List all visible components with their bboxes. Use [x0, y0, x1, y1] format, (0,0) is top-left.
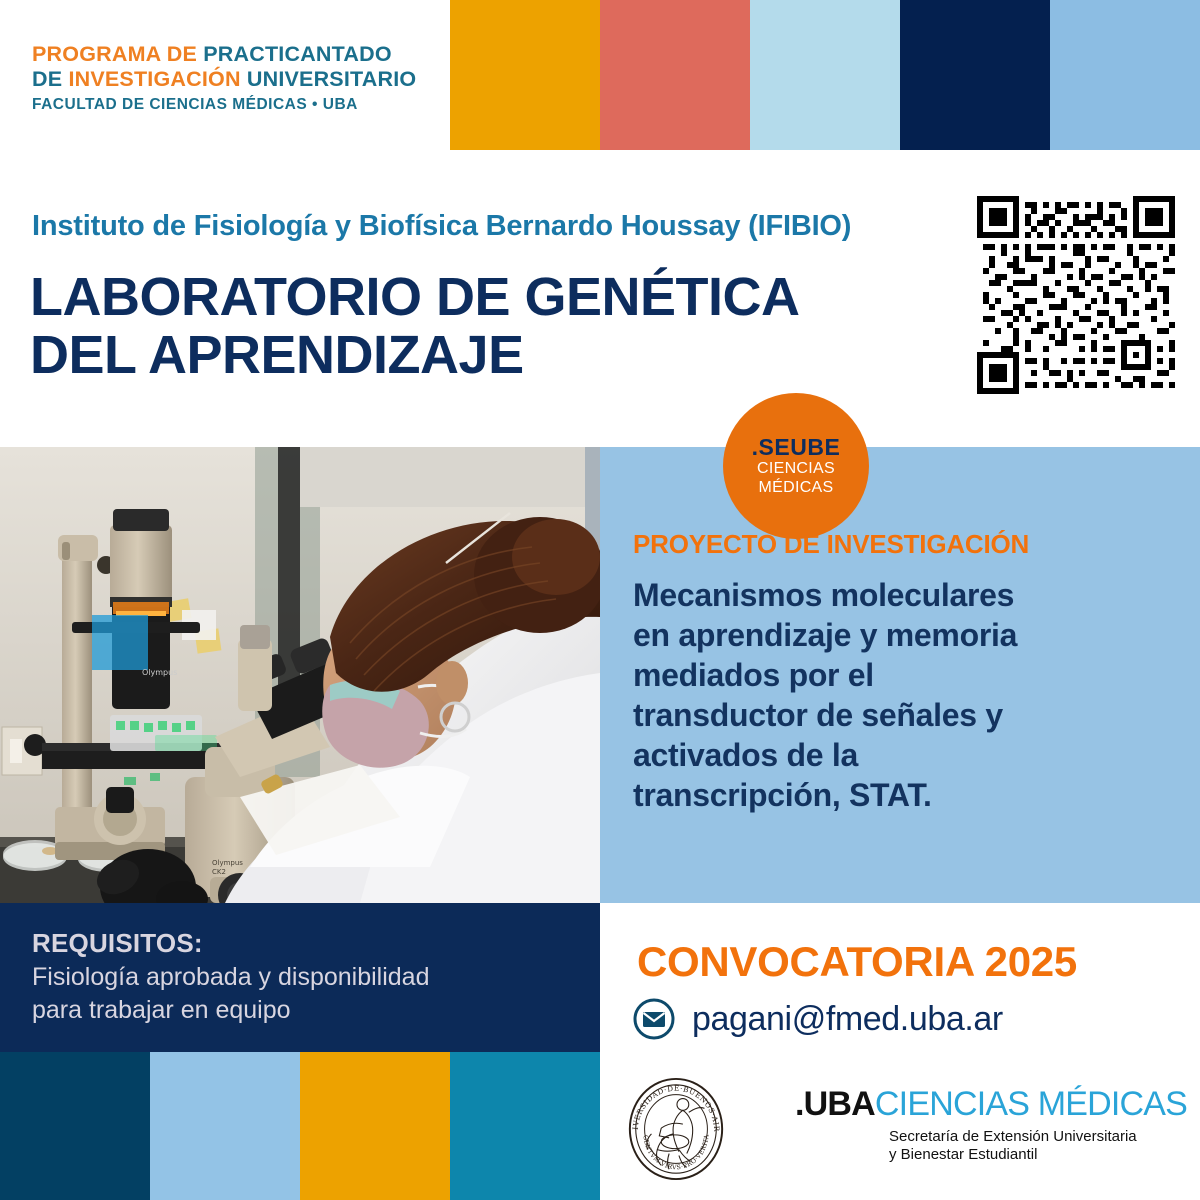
- requisitos-band: REQUISITOS: Fisiología aprobada y dispon…: [0, 903, 600, 1052]
- svg-text:CK2: CK2: [212, 868, 226, 876]
- uba-wordmark-main: .UBACIENCIAS MÉDICAS: [795, 1085, 1175, 1123]
- requisitos-text: Fisiología aprobada y disponibilidad par…: [32, 961, 572, 1027]
- contact-row[interactable]: pagani@fmed.uba.ar: [632, 997, 1003, 1041]
- top-bar-segment-coral: [600, 0, 750, 150]
- bottom-bar-segment-teal: [450, 1052, 600, 1200]
- svg-text:Olympus: Olympus: [212, 859, 243, 867]
- top-bar-segment-navy: [900, 0, 1050, 150]
- bottom-bar-segment-gold: [300, 1052, 450, 1200]
- uba-wordmark-subtitle-line-1: Secretaría de Extensión Universitaria: [889, 1128, 1175, 1146]
- requisitos-text-line: Fisiología aprobada y disponibilidad: [32, 961, 572, 994]
- project-title-line: transcripción, STAT.: [633, 775, 1178, 815]
- convocatoria-heading: CONVOCATORIA 2025: [637, 938, 1077, 986]
- laboratory-photo: Olympus Olympus CK2: [0, 447, 600, 903]
- program-logo-line-1: PROGRAMA DE PRACTICANTADO: [32, 42, 452, 67]
- project-title: Mecanismos moleculares en aprendizaje y …: [633, 575, 1178, 815]
- program-logo-line-1b: PRACTICANTADO: [203, 42, 392, 66]
- requisitos-label: REQUISITOS:: [32, 928, 203, 959]
- seube-badge-subtitle-1: CIENCIAS: [757, 459, 835, 478]
- top-bar-segment-gold: [450, 0, 600, 150]
- project-title-line: en aprendizaje y memoria: [633, 615, 1178, 655]
- seube-badge: .SEUBE CIENCIAS MÉDICAS: [723, 393, 869, 539]
- institute-name: Instituto de Fisiología y Biofísica Bern…: [32, 210, 962, 243]
- seube-badge-title: .SEUBE: [752, 435, 841, 459]
- top-bar-segment-medium-blue: [1050, 0, 1200, 150]
- bottom-bar-segment-dark-blue: [0, 1052, 150, 1200]
- uba-ciencias-medicas-wordmark: .UBACIENCIAS MÉDICAS Secretaría de Exten…: [795, 1085, 1175, 1164]
- bottom-bar-segment-light-blue: [150, 1052, 300, 1200]
- project-panel: PROYECTO DE INVESTIGACIÓN Mecanismos mol…: [600, 447, 1200, 903]
- uba-wordmark-subtitle-line-2: y Bienestar Estudiantil: [889, 1146, 1175, 1164]
- uba-wordmark-uba: .UBA: [795, 1085, 875, 1123]
- qr-code[interactable]: [977, 196, 1175, 394]
- program-logo: PROGRAMA DE PRACTICANTADO DE INVESTIGACI…: [32, 42, 452, 116]
- project-section-label: PROYECTO DE INVESTIGACIÓN: [633, 529, 1029, 560]
- uba-wordmark-subtitle: Secretaría de Extensión Universitaria y …: [889, 1128, 1175, 1164]
- mail-envelope-icon: [632, 997, 676, 1041]
- project-title-line: transductor de señales y: [633, 695, 1178, 735]
- page-title: LABORATORIO DE GENÉTICA DEL APRENDIZAJE: [30, 268, 960, 384]
- bottom-color-bar: [0, 1052, 600, 1200]
- page-title-line-1: LABORATORIO DE GENÉTICA: [30, 268, 960, 326]
- program-logo-line-1a: PROGRAMA DE: [32, 42, 203, 66]
- project-title-line: activados de la: [633, 735, 1178, 775]
- program-logo-line-2: DE INVESTIGACIÓN UNIVERSITARIO: [32, 67, 452, 92]
- program-logo-line-2b: INVESTIGACIÓN: [68, 67, 246, 91]
- program-logo-faculty: FACULTAD DE CIENCIAS MÉDICAS • UBA: [32, 94, 452, 116]
- svg-text:Olympus: Olympus: [142, 668, 177, 677]
- project-title-line: mediados por el: [633, 655, 1178, 695]
- program-logo-line-2c: UNIVERSITARIO: [247, 67, 416, 91]
- page-title-line-2: DEL APRENDIZAJE: [30, 326, 960, 384]
- contact-email[interactable]: pagani@fmed.uba.ar: [692, 1000, 1003, 1039]
- uba-wordmark-ciencias-medicas: CIENCIAS MÉDICAS: [875, 1085, 1187, 1123]
- seube-badge-subtitle-2: MÉDICAS: [759, 478, 834, 497]
- requisitos-text-line: para trabajar en equipo: [32, 994, 572, 1027]
- program-logo-line-2a: DE: [32, 67, 68, 91]
- top-color-bar: [450, 0, 1200, 150]
- top-bar-segment-pale-blue: [750, 0, 900, 150]
- project-title-line: Mecanismos moleculares: [633, 575, 1178, 615]
- uba-seal-logo: UNIVERSIDAD·DE·BUENOS·AIRES ARGENTVM·VIR…: [622, 1073, 730, 1185]
